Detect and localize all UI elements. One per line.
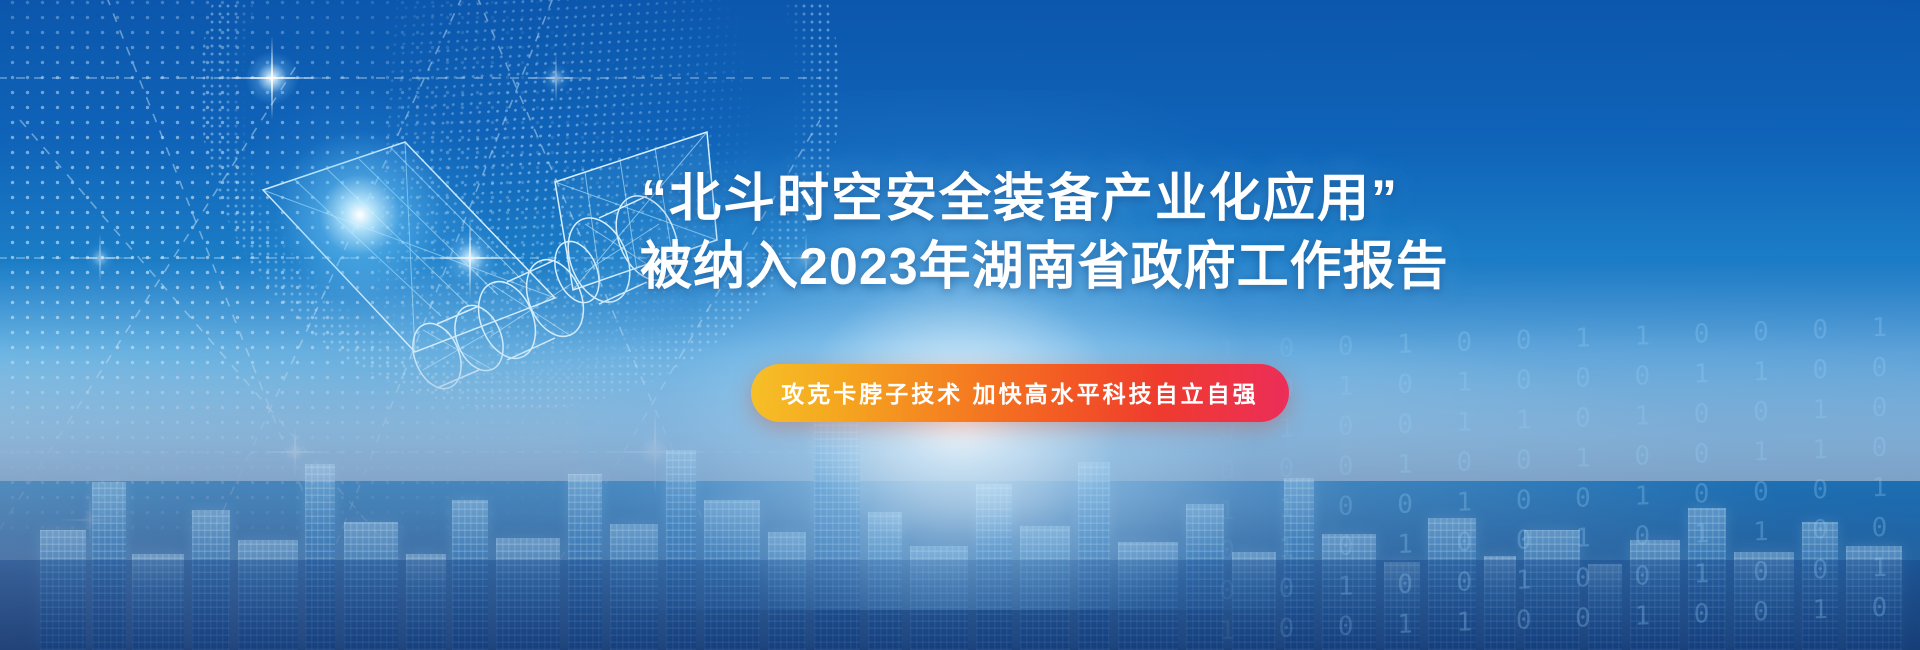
subtitle-pill[interactable]: 攻克卡脖子技术 加快高水平科技自立自强: [751, 364, 1288, 422]
network-node: [541, 63, 571, 93]
binary-overlay-graphic: 0 1 0 0 1 0 0 1 1 0 0 0 1 0 0 1 0 0 1 0 …: [1160, 307, 1920, 650]
promo-banner: 0 1 0 0 1 0 0 1 1 0 0 0 1 0 0 1 0 0 1 0 …: [0, 0, 1920, 650]
headline-line-2: 被纳入2023年湖南省政府工作报告: [640, 236, 1400, 298]
network-node: [245, 51, 299, 105]
headline-block: “北斗时空安全装备产业化应用” 被纳入2023年湖南省政府工作报告: [640, 168, 1400, 298]
subtitle-pill-wrap: 攻克卡脖子技术 加快高水平科技自立自强: [640, 364, 1400, 422]
headline-line-1: “北斗时空安全装备产业化应用”: [640, 168, 1400, 230]
